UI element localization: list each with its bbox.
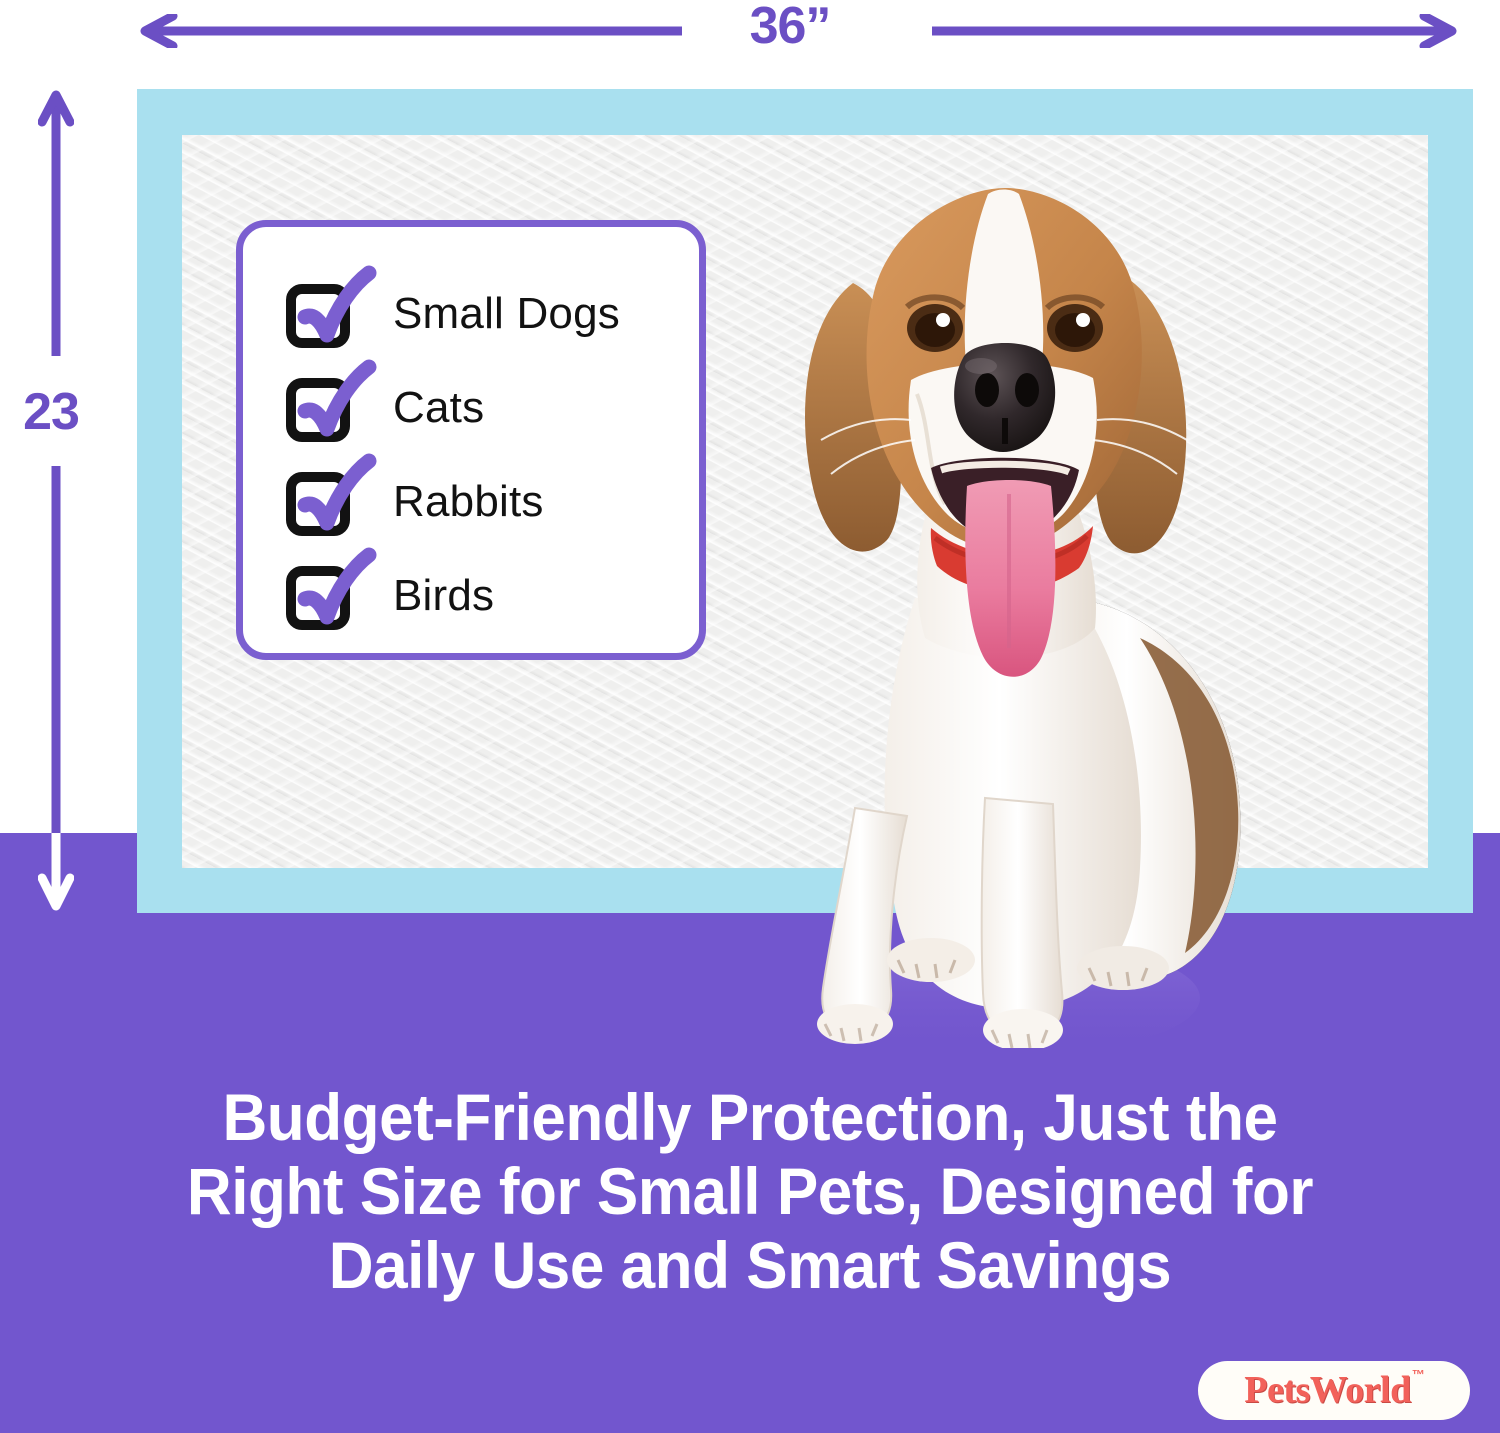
headline-line-3: Daily Use and Smart Savings xyxy=(45,1228,1455,1302)
list-item-label: Cats xyxy=(393,383,484,433)
list-item[interactable]: Birds xyxy=(289,549,699,643)
checkbox-checked-icon[interactable] xyxy=(289,565,351,627)
list-item[interactable]: Rabbits xyxy=(289,455,699,549)
dog-rear-paw-left xyxy=(887,938,975,982)
brand-name: PetsWorld xyxy=(1244,1368,1410,1412)
checkbox-checked-icon[interactable] xyxy=(289,283,351,345)
dog-front-leg-right xyxy=(982,798,1063,1036)
dog-rear-paw-right xyxy=(1077,946,1169,990)
petsworld-brand-logo: PetsWorld ™ xyxy=(1198,1361,1470,1420)
list-item-label: Small Dogs xyxy=(393,289,620,339)
headline-line-2: Right Size for Small Pets, Designed for xyxy=(45,1154,1455,1228)
height-dimension-label: 23 xyxy=(4,382,98,442)
trademark-symbol: ™ xyxy=(1412,1367,1425,1382)
list-item-label: Rabbits xyxy=(393,477,544,527)
headline-line-1: Budget-Friendly Protection, Just the xyxy=(45,1080,1455,1154)
pet-compatibility-checklist: Small Dogs Cats Rabbits Birds xyxy=(236,220,706,660)
marketing-headline: Budget-Friendly Protection, Just the Rig… xyxy=(45,1080,1455,1302)
dog-paw-left xyxy=(817,1004,893,1044)
height-dimension-arrow xyxy=(38,88,74,920)
list-item[interactable]: Cats xyxy=(289,361,699,455)
width-dimension-label: 36” xyxy=(700,0,880,56)
checkbox-checked-icon[interactable] xyxy=(289,377,351,439)
beagle-dog-photo xyxy=(735,168,1295,1048)
list-item[interactable]: Small Dogs xyxy=(289,267,699,361)
checkbox-checked-icon[interactable] xyxy=(289,471,351,533)
list-item-label: Birds xyxy=(393,571,494,621)
